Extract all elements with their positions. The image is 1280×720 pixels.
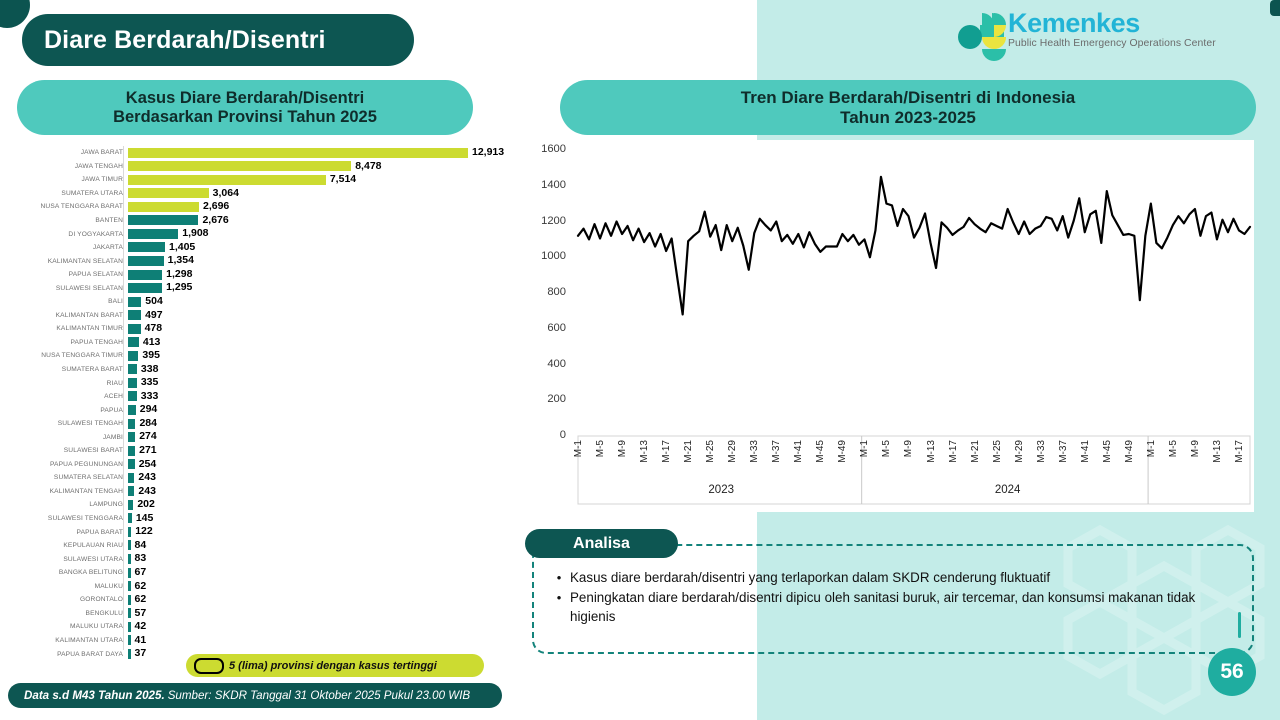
bar-segment [128,622,131,632]
bar-value-label: 478 [145,322,163,335]
bar-segment [128,364,137,374]
x-axis-tick-label: M-37 [771,440,782,463]
x-axis-tick-label: M-9 [903,440,914,457]
page-title: Diare Berdarah/Disentri [44,26,326,55]
bar-chart-row: SULAWESI TENGGARA145 [10,512,510,526]
x-axis-tick-label: M-45 [1102,440,1113,463]
bar-track: 2,676 [128,214,510,228]
analisa-label: Analisa [573,535,630,553]
logo-subtitle: Public Health Emergency Operations Cente… [1008,38,1216,50]
bar-track: 145 [128,512,510,526]
bar-chart-row: DI YOGYAKARTA1,908 [10,227,510,241]
slide-canvas: Diare Berdarah/Disentri Kemenkes Public … [0,0,1280,720]
bar-chart-row: PAPUA294 [10,403,510,417]
bar-track: 1,405 [128,241,510,255]
x-axis-tick-label: M-33 [749,440,760,463]
x-axis-tick-label: M-13 [639,440,650,463]
bar-value-label: 57 [135,607,147,620]
x-axis-tick-label: M-29 [1014,440,1025,463]
left-chart-header: Kasus Diare Berdarah/Disentri Berdasarka… [17,80,473,135]
right-chart-header-line2: Tahun 2023-2025 [840,108,976,128]
bar-chart-row: ACEH333 [10,390,510,404]
bar-track: 1,298 [128,268,510,282]
bar-value-label: 333 [141,390,159,403]
bar-segment [128,161,351,171]
x-axis-tick-label: M-41 [1080,440,1091,463]
bar-chart-row: JAMBI274 [10,430,510,444]
bar-chart-row: PAPUA TENGAH413 [10,336,510,350]
bar-value-label: 335 [141,376,159,389]
bar-category-label: KALIMANTAN UTARA [10,637,128,644]
bar-category-label: PAPUA BARAT [10,529,128,536]
x-axis-tick-label: M-5 [595,440,606,457]
bar-chart-row: KALIMANTAN TIMUR478 [10,322,510,336]
bar-segment [128,635,131,645]
analisa-item-text: Kasus diare berdarah/disentri yang terla… [570,568,1050,587]
bar-track: 202 [128,498,510,512]
bar-chart-row: SUMATERA SELATAN243 [10,471,510,485]
bar-segment [128,405,136,415]
x-axis-tick-label: M-17 [948,440,959,463]
bar-chart-row: PAPUA SELATAN1,298 [10,268,510,282]
bar-track: 478 [128,322,510,336]
bar-segment [128,242,165,252]
bar-value-label: 413 [143,336,161,349]
bar-chart-row: KALIMANTAN SELATAN1,354 [10,254,510,268]
bar-segment [128,188,209,198]
analisa-item-text: Peningkatan diare berdarah/disentri dipi… [570,588,1230,626]
trend-line-series [578,177,1250,315]
slide-title-pill: Diare Berdarah/Disentri [22,14,414,66]
bar-segment [128,391,137,401]
bar-chart-row: SUMATERA BARAT338 [10,363,510,377]
bar-track: 84 [128,539,510,553]
bar-track: 284 [128,417,510,431]
bar-segment [128,540,131,550]
bar-chart-row: JAWA TENGAH8,478 [10,160,510,174]
bar-value-label: 274 [139,430,157,443]
bar-value-label: 42 [135,620,147,633]
footer-source-text: Sumber: SKDR Tanggal 31 Oktober 2025 Puk… [168,689,470,702]
bar-value-label: 67 [135,566,147,579]
bar-category-label: SULAWESI SELATAN [10,285,128,292]
bar-track: 2,696 [128,200,510,214]
bar-category-label: KALIMANTAN BARAT [10,312,128,319]
bar-value-label: 37 [135,647,147,660]
right-chart-header-line1: Tren Diare Berdarah/Disentri di Indonesi… [741,88,1075,108]
bar-value-label: 243 [138,485,156,498]
bar-chart-row: PAPUA PEGUNUNGAN254 [10,458,510,472]
bar-segment [128,432,135,442]
bar-category-label: JAWA TIMUR [10,176,128,183]
bar-chart-row: NUSA TENGGARA TIMUR395 [10,349,510,363]
bar-track: 294 [128,403,510,417]
bar-value-label: 7,514 [330,173,356,186]
bar-category-label: PAPUA BARAT DAYA [10,651,128,658]
bar-category-label: BANTEN [10,217,128,224]
bar-value-label: 294 [140,403,158,416]
bar-category-label: GORONTALO [10,596,128,603]
bar-category-label: BENGKULU [10,610,128,617]
bar-category-label: SULAWESI TENGAH [10,420,128,427]
bar-track: 7,514 [128,173,510,187]
bar-track: 12,913 [128,146,510,160]
analisa-bullet-list: •Kasus diare berdarah/disentri yang terl… [548,568,1248,627]
x-axis-tick-label: M-17 [661,440,672,463]
bar-chart-row: BALI504 [10,295,510,309]
page-number: 56 [1220,660,1243,684]
bar-value-label: 1,908 [182,227,208,240]
bar-value-label: 62 [135,593,147,606]
bar-category-label: JAMBI [10,434,128,441]
bar-value-label: 243 [138,471,156,484]
bar-chart-row: SULAWESI TENGAH284 [10,417,510,431]
bar-category-label: JAKARTA [10,244,128,251]
edge-tab-decoration [1270,0,1280,16]
bar-track: 8,478 [128,160,510,174]
bar-chart-row: BANGKA BELITUNG67 [10,566,510,580]
bar-segment [128,202,199,212]
bar-category-label: BALI [10,298,128,305]
corner-dot-decoration [0,0,30,28]
bar-track: 1,295 [128,281,510,295]
bar-chart-row: LAMPUNG202 [10,498,510,512]
bar-category-label: RIAU [10,380,128,387]
bar-chart-row: JAWA BARAT12,913 [10,146,510,160]
bar-segment [128,500,133,510]
bar-segment [128,419,135,429]
x-axis-tick-label: M-9 [1190,440,1201,457]
bar-category-label: SULAWESI UTARA [10,556,128,563]
source-footer: Data s.d M43 Tahun 2025. Sumber: SKDR Ta… [8,683,502,708]
legend-label: 5 (lima) provinsi dengan kasus tertinggi [229,660,437,672]
bar-category-label: NUSA TENGGARA BARAT [10,203,128,210]
x-axis-tick-label: M-13 [926,440,937,463]
bar-value-label: 3,064 [213,187,239,200]
x-axis-tick-label: M-25 [992,440,1003,463]
bar-chart-row: PAPUA BARAT122 [10,525,510,539]
logo-text-block: Kemenkes Public Health Emergency Operati… [1008,8,1216,50]
bar-category-label: KALIMANTAN SELATAN [10,258,128,265]
bar-chart-row: KALIMANTAN TENGAH243 [10,485,510,499]
bar-chart-row: SULAWESI BARAT271 [10,444,510,458]
analisa-list-item: •Kasus diare berdarah/disentri yang terl… [548,568,1248,587]
bar-chart-row: SUMATERA UTARA3,064 [10,187,510,201]
bar-value-label: 62 [135,580,147,593]
bar-segment [128,297,141,307]
logo-name: Kemenkes [1008,8,1216,38]
bar-segment [128,351,138,361]
bar-value-label: 202 [137,498,155,511]
bar-track: 1,908 [128,227,510,241]
left-chart-header-line2: Berdasarkan Provinsi Tahun 2025 [113,108,377,127]
bar-segment [128,513,132,523]
x-axis-tick-label: M-13 [1212,440,1223,463]
bar-value-label: 145 [136,512,154,525]
x-axis-tick-label: M-5 [881,440,892,457]
legend-capsule-icon [194,658,224,674]
bar-value-label: 84 [135,539,147,552]
bar-track: 274 [128,430,510,444]
bar-value-label: 284 [139,417,157,430]
bar-segment [128,256,164,266]
bar-track: 333 [128,390,510,404]
bar-segment [128,215,198,225]
bar-segment [128,649,131,659]
bar-value-label: 122 [135,525,153,538]
bar-segment [128,568,131,578]
trend-line-chart: 02004006008001000120014001600M-1M-5M-9M-… [522,140,1254,512]
x-axis-tick-label: M-1 [573,440,584,457]
x-axis-tick-label: M-1 [859,440,870,457]
bullet-icon: • [548,588,570,626]
bar-track: 83 [128,552,510,566]
bar-track: 497 [128,309,510,323]
bar-segment [128,473,134,483]
bar-chart-row: JAWA TIMUR7,514 [10,173,510,187]
bar-value-label: 504 [145,295,163,308]
bar-segment [128,310,141,320]
bar-category-label: ACEH [10,393,128,400]
bar-value-label: 83 [135,552,147,565]
bar-segment [128,554,131,564]
x-axis-tick-label: M-25 [705,440,716,463]
bar-value-label: 12,913 [472,146,504,159]
bar-track: 395 [128,349,510,363]
bar-category-label: SULAWESI TENGGARA [10,515,128,522]
x-axis-year-label: 2023 [578,484,864,496]
bar-value-label: 1,354 [168,254,194,267]
x-axis-year-label: 2024 [864,484,1150,496]
bar-track: 504 [128,295,510,309]
analisa-label-pill: Analisa [525,529,678,558]
x-axis-tick-label: M-37 [1058,440,1069,463]
bar-segment [128,337,139,347]
page-tick-decoration [1238,612,1241,638]
bar-category-label: SULAWESI BARAT [10,447,128,454]
bar-category-label: MALUKU UTARA [10,623,128,630]
bar-category-label: PAPUA [10,407,128,414]
bar-value-label: 1,295 [166,281,192,294]
bar-track: 67 [128,566,510,580]
bar-segment [128,527,131,537]
bar-value-label: 2,676 [202,214,228,227]
bar-category-label: SUMATERA SELATAN [10,474,128,481]
x-axis-tick-label: M-21 [970,440,981,463]
bar-chart-legend: 5 (lima) provinsi dengan kasus tertinggi [186,654,484,677]
x-axis-tick-label: M-17 [1234,440,1245,463]
x-axis-year-label: 2025 [1151,484,1280,496]
bar-value-label: 497 [145,309,163,322]
x-axis-tick-label: M-5 [1168,440,1179,457]
bar-chart-row: KALIMANTAN UTARA41 [10,634,510,648]
bar-chart-row: GORONTALO62 [10,593,510,607]
bar-segment [128,459,135,469]
bar-segment [128,595,131,605]
bar-track: 254 [128,458,510,472]
bar-chart-row: SULAWESI UTARA83 [10,552,510,566]
bar-segment [128,324,141,334]
right-chart-header: Tren Diare Berdarah/Disentri di Indonesi… [560,80,1256,135]
bar-segment [128,486,134,496]
bar-chart-row: NUSA TENGGARA BARAT2,696 [10,200,510,214]
bar-category-label: PAPUA PEGUNUNGAN [10,461,128,468]
bar-track: 57 [128,607,510,621]
x-axis-tick-label: M-45 [815,440,826,463]
bar-track: 122 [128,525,510,539]
bar-track: 1,354 [128,254,510,268]
bar-value-label: 271 [139,444,157,457]
page-number-badge: 56 [1208,648,1256,696]
bar-segment [128,270,162,280]
bar-category-label: PAPUA SELATAN [10,271,128,278]
bar-value-label: 41 [135,634,147,647]
bar-category-label: NUSA TENGGARA TIMUR [10,352,128,359]
bar-value-label: 2,696 [203,200,229,213]
left-chart-header-line1: Kasus Diare Berdarah/Disentri [126,89,364,108]
bar-value-label: 1,405 [169,241,195,254]
bar-segment [128,175,326,185]
x-axis-tick-label: M-29 [727,440,738,463]
bar-chart-row: SULAWESI SELATAN1,295 [10,281,510,295]
x-axis-tick-label: M-1 [1146,440,1157,457]
bar-category-label: LAMPUNG [10,501,128,508]
bar-chart-row: MALUKU UTARA42 [10,620,510,634]
bar-segment [128,283,162,293]
bullet-icon: • [548,568,570,587]
bar-chart-row: JAKARTA1,405 [10,241,510,255]
bar-chart-row: BENGKULU57 [10,607,510,621]
bar-chart-row: RIAU335 [10,376,510,390]
bar-value-label: 8,478 [355,160,381,173]
bar-track: 3,064 [128,187,510,201]
x-axis-tick-label: M-21 [683,440,694,463]
analisa-list-item: •Peningkatan diare berdarah/disentri dip… [548,588,1248,626]
bar-value-label: 1,298 [166,268,192,281]
bar-track: 243 [128,471,510,485]
bar-track: 243 [128,485,510,499]
bar-track: 338 [128,363,510,377]
bar-track: 42 [128,620,510,634]
bar-segment [128,446,135,456]
bar-segment [128,378,137,388]
x-axis-tick-label: M-41 [793,440,804,463]
bar-track: 335 [128,376,510,390]
bar-category-label: JAWA BARAT [10,149,128,156]
x-axis-tick-label: M-49 [837,440,848,463]
bar-chart-row: KEPULAUAN RIAU84 [10,539,510,553]
bar-category-label: KALIMANTAN TIMUR [10,325,128,332]
x-axis-tick-label: M-49 [1124,440,1135,463]
bar-category-label: SUMATERA BARAT [10,366,128,373]
x-axis-tick-label: M-33 [1036,440,1047,463]
bar-track: 62 [128,580,510,594]
bar-track: 271 [128,444,510,458]
bar-segment [128,229,178,239]
footer-bold-text: Data s.d M43 Tahun 2025. [24,689,165,702]
bar-track: 413 [128,336,510,350]
x-axis-tick-label: M-9 [617,440,628,457]
bar-chart-row: BANTEN2,676 [10,214,510,228]
bar-category-label: KALIMANTAN TENGAH [10,488,128,495]
bar-category-label: KEPULAUAN RIAU [10,542,128,549]
bar-category-label: SUMATERA UTARA [10,190,128,197]
bar-track: 41 [128,634,510,648]
bar-value-label: 254 [139,458,157,471]
bar-category-label: JAWA TENGAH [10,163,128,170]
bar-category-label: MALUKU [10,583,128,590]
province-bar-chart: JAWA BARAT12,913JAWA TENGAH8,478JAWA TIM… [10,146,510,656]
bar-chart-row: MALUKU62 [10,580,510,594]
bar-segment [128,581,131,591]
bar-track: 62 [128,593,510,607]
bar-category-label: BANGKA BELITUNG [10,569,128,576]
bar-chart-row: KALIMANTAN BARAT497 [10,309,510,323]
bar-category-label: DI YOGYAKARTA [10,231,128,238]
bar-category-label: PAPUA TENGAH [10,339,128,346]
bar-value-label: 338 [141,363,159,376]
bar-value-label: 395 [142,349,160,362]
bar-segment [128,608,131,618]
bar-segment [128,148,468,158]
